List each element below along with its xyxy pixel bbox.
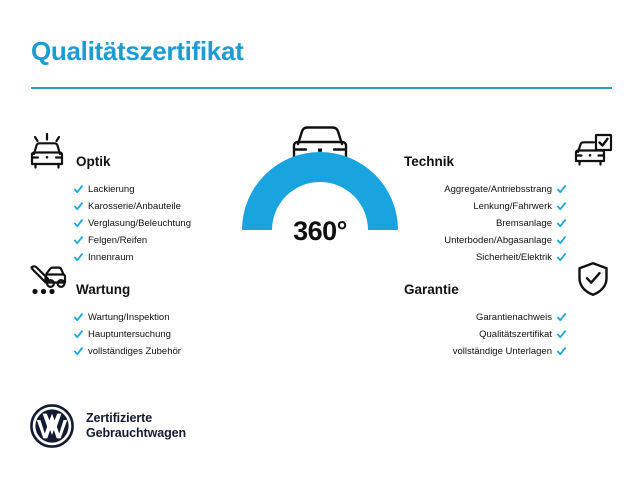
- section-garantie: Garantie Garantienachweis Qualitätszerti…: [400, 258, 616, 360]
- list-item-label: Garantienachweis: [476, 309, 552, 326]
- list-item: vollständige Unterlagen: [400, 343, 566, 360]
- footer-logo-line1: Zertifizierte: [86, 411, 186, 426]
- list-item: vollständiges Zubehör: [74, 343, 240, 360]
- car-checkbox-icon: [570, 130, 616, 172]
- check-icon: [557, 185, 566, 194]
- list-item-label: Unterboden/Abgasanlage: [444, 232, 552, 249]
- check-icon: [557, 347, 566, 356]
- volkswagen-logo: [30, 404, 74, 448]
- section-optik-titlewrap: Optik: [70, 153, 240, 172]
- section-optik-title: Optik: [70, 154, 115, 172]
- section-garantie-titlewrap: Garantie: [400, 281, 570, 300]
- section-garantie-list: Garantienachweis Qualitätszertifikat vol…: [400, 300, 616, 360]
- list-item: Garantienachweis: [400, 309, 566, 326]
- check-icon: [74, 313, 83, 322]
- list-item: Hauptuntersuchung: [74, 326, 240, 343]
- list-item: Lenkung/Fahrwerk: [400, 198, 566, 215]
- list-item-label: Karosserie/Anbauteile: [88, 198, 181, 215]
- list-item-label: Hauptuntersuchung: [88, 326, 171, 343]
- header-divider: [31, 87, 612, 89]
- list-item: Verglasung/Beleuchtung: [74, 215, 240, 232]
- section-technik-titlewrap: Technik: [400, 153, 570, 172]
- section-wartung: Wartung Wartung/Inspektion Hauptuntersuc…: [24, 258, 240, 360]
- footer-logo-block: Zertifizierte Gebrauchtwagen: [30, 404, 186, 448]
- section-optik-list: Lackierung Karosserie/Anbauteile Verglas…: [24, 172, 240, 266]
- check-icon: [74, 219, 83, 228]
- section-technik-header: Technik: [400, 130, 616, 172]
- section-technik-list: Aggregate/Antriebsstrang Lenkung/Fahrwer…: [400, 172, 616, 266]
- check-icon: [557, 313, 566, 322]
- list-item: Karosserie/Anbauteile: [74, 198, 240, 215]
- list-item-label: Verglasung/Beleuchtung: [88, 215, 191, 232]
- section-wartung-title: Wartung: [70, 282, 134, 300]
- check-icon: [74, 330, 83, 339]
- list-item-label: vollständiges Zubehör: [88, 343, 181, 360]
- section-wartung-titlewrap: Wartung: [70, 281, 240, 300]
- check-icon: [557, 236, 566, 245]
- section-wartung-list: Wartung/Inspektion Hauptuntersuchung vol…: [24, 300, 240, 360]
- list-item: Bremsanlage: [400, 215, 566, 232]
- footer-logo-line2: Gebrauchtwagen: [86, 426, 186, 441]
- section-optik: Optik Lackierung Karosserie/Anbauteile V…: [24, 130, 240, 266]
- list-item-label: vollständige Unterlagen: [453, 343, 552, 360]
- list-item: Unterboden/Abgasanlage: [400, 232, 566, 249]
- list-item: Lackierung: [74, 181, 240, 198]
- badge-center-label: 360°: [228, 216, 412, 247]
- car-shine-icon: [24, 130, 70, 172]
- list-item: Wartung/Inspektion: [74, 309, 240, 326]
- section-garantie-header: Garantie: [400, 258, 616, 300]
- list-item: Qualitätszertifikat: [400, 326, 566, 343]
- list-item-label: Lenkung/Fahrwerk: [473, 198, 552, 215]
- check-icon: [74, 347, 83, 356]
- list-item: Felgen/Reifen: [74, 232, 240, 249]
- list-item-label: Qualitätszertifikat: [479, 326, 552, 343]
- shield-check-icon: [570, 258, 616, 300]
- badge-360-gebrauchtwagen-check: Gebrauchtwagen-Check 360°: [228, 118, 412, 314]
- car-service-wrench-icon: [24, 258, 70, 300]
- list-item-label: Aggregate/Antriebsstrang: [444, 181, 552, 198]
- list-item: Aggregate/Antriebsstrang: [400, 181, 566, 198]
- section-optik-header: Optik: [24, 130, 240, 172]
- section-wartung-header: Wartung: [24, 258, 240, 300]
- list-item-label: Wartung/Inspektion: [88, 309, 170, 326]
- section-technik: Technik Aggregate/Antriebsstrang Lenkung…: [400, 130, 616, 266]
- check-icon: [74, 185, 83, 194]
- check-icon: [74, 202, 83, 211]
- check-icon: [74, 236, 83, 245]
- page-title: Qualitätszertifikat: [31, 36, 243, 67]
- list-item-label: Lackierung: [88, 181, 134, 198]
- check-icon: [557, 219, 566, 228]
- check-icon: [557, 330, 566, 339]
- list-item-label: Felgen/Reifen: [88, 232, 147, 249]
- footer-logo-text: Zertifizierte Gebrauchtwagen: [86, 411, 186, 441]
- list-item-label: Bremsanlage: [496, 215, 552, 232]
- check-icon: [557, 202, 566, 211]
